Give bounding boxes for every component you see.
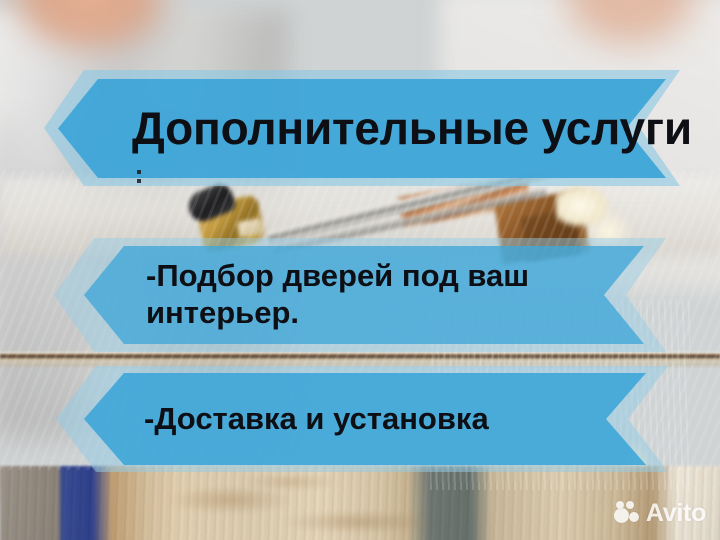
service-item-2-text: -Доставка и установка [144,366,644,472]
service-item-1-line-1: -Подбор дверей под ваш [146,258,646,295]
service-item-1-text: -Подбор дверей под ваш интерьер. [146,244,646,346]
service-item-banner-1: -Подбор дверей под ваш интерьер. [54,238,666,352]
avito-dot-top-left [616,501,624,509]
avito-dot-top-right [626,501,634,509]
avito-wordmark: Avito [646,499,706,528]
avito-watermark: Avito [614,499,706,528]
title-banner: Дополнительные услуги [44,70,680,186]
avito-dot-bottom-right [629,512,639,522]
service-item-1-line-2: интерьер. [146,295,646,332]
service-item-banner-2: -Доставка и установка [56,366,668,472]
avito-dot-large [614,508,629,523]
avito-logo-icon [614,501,640,527]
colon-artifact [137,170,141,184]
advertisement-image: Дополнительные услуги -Подбор дверей под… [0,0,720,540]
page-title: Дополнительные услуги [132,84,672,172]
